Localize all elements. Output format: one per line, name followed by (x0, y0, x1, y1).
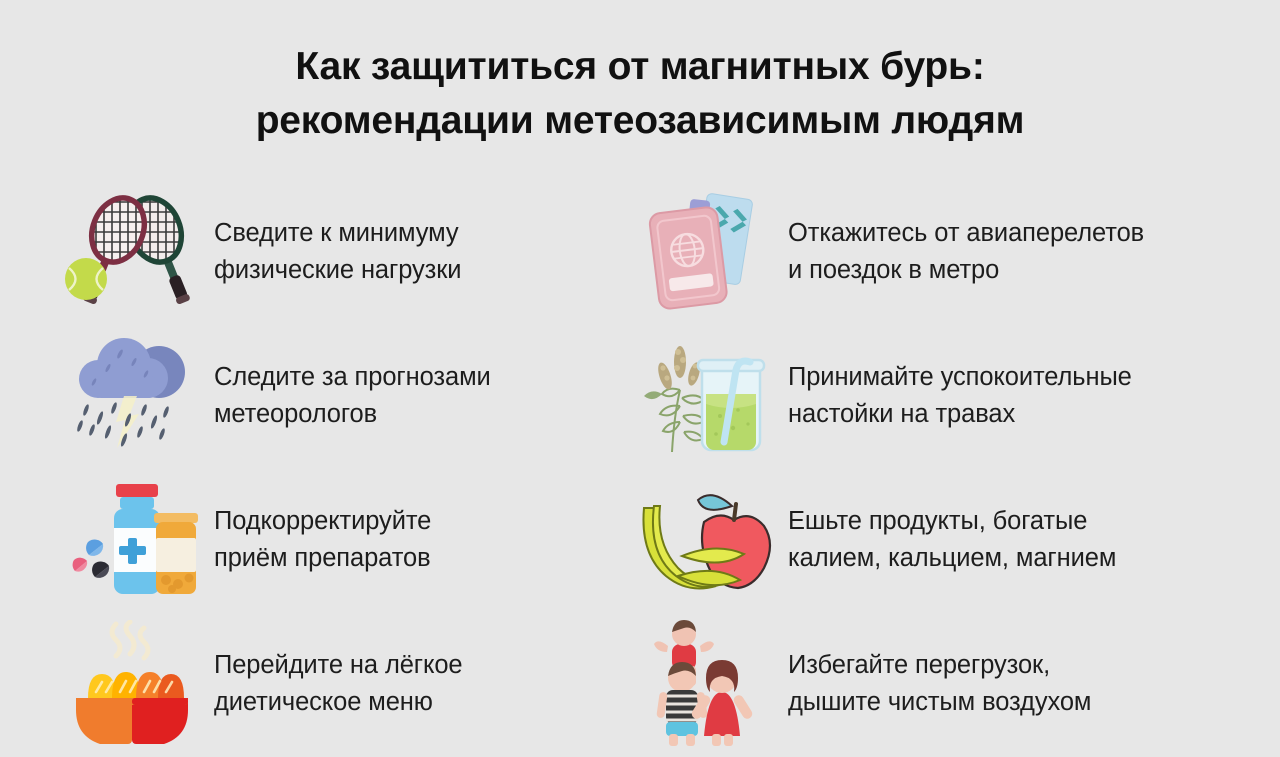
page-title: Как защититься от магнитных бурь: рекоме… (0, 40, 1280, 148)
infographic-root: Как защититься от магнитных бурь: рекоме… (0, 0, 1280, 757)
tip-weather-forecast: Следите за прогнозами метеорологов (0, 324, 618, 468)
tip-text: Следите за прогнозами метеорологов (214, 359, 491, 433)
passport-tickets-icon (638, 188, 778, 316)
herbal-drink-icon (638, 332, 778, 460)
tip-light-diet: Перейдите на лёгкое диетическое меню (0, 612, 618, 756)
tip-text: Избегайте перегрузок, дышите чистым возд… (788, 647, 1091, 721)
tip-text: Сведите к минимуму физические нагрузки (214, 215, 461, 289)
page-title-line-1: Как защититься от магнитных бурь: (90, 40, 1190, 94)
food-bowl-icon (62, 620, 202, 748)
tip-air-travel: Откажитесь от авиаперелетов и поездок в … (618, 180, 1240, 324)
tip-text: Принимайте успокоительные настойки на тр… (788, 359, 1132, 433)
tips-grid: Сведите к минимуму физические нагрузки (0, 180, 1280, 757)
tip-avoid-overload: Избегайте перегрузок, дышите чистым возд… (618, 612, 1240, 756)
tip-herbal-tinctures: Принимайте успокоительные настойки на тр… (618, 324, 1240, 468)
children-family-icon (638, 620, 778, 748)
page-title-line-2: рекомендации метеозависимым людям (90, 94, 1190, 148)
banana-apple-icon (638, 476, 778, 604)
medicine-bottles-icon (62, 476, 202, 604)
tip-text: Подкорректируйте приём препаратов (214, 503, 431, 577)
tennis-rackets-icon (62, 188, 202, 316)
tip-physical-activity: Сведите к минимуму физические нагрузки (0, 180, 618, 324)
tip-text: Перейдите на лёгкое диетическое меню (214, 647, 463, 721)
tip-medication-adjustment: Подкорректируйте приём препаратов (0, 468, 618, 612)
tip-mineral-rich-food: Ешьте продукты, богатые калием, кальцием… (618, 468, 1240, 612)
tip-text: Откажитесь от авиаперелетов и поездок в … (788, 215, 1144, 289)
tip-text: Ешьте продукты, богатые калием, кальцием… (788, 503, 1116, 577)
rain-cloud-icon (62, 332, 202, 460)
